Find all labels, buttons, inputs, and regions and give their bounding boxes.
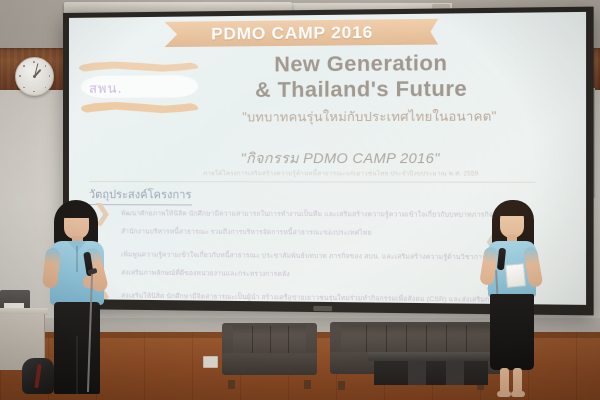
leather-armchair	[222, 323, 317, 381]
slide-title-line2: & Thailand's Future	[190, 76, 535, 104]
hair-fringe	[61, 202, 92, 218]
armchair-cushion	[222, 353, 317, 375]
list-item-text: พัฒนาศักยภาพให้นิสิต นักศึกษามีความสามาร…	[121, 210, 506, 237]
list-item-text: เพิ่มพูนความรู้ความเข้าใจเกี่ยวกับหนี้สา…	[121, 251, 521, 278]
armchair-back	[222, 323, 317, 357]
right-presenter	[478, 198, 556, 400]
flag-script-text: สพน.	[89, 77, 194, 98]
left-shoe	[497, 391, 511, 397]
ribbon-title: PDMO CAMP 2016	[211, 22, 373, 44]
coffee-table	[368, 352, 494, 390]
left-presenter	[36, 196, 120, 400]
slide-title-line1: New Generation	[190, 50, 535, 78]
hair-fringe	[497, 202, 528, 216]
slide-subtitle: "บทบาทคนรุ่นใหม่กับประเทศไทยในอนาคต"	[190, 106, 551, 128]
objectives-list: ❯ พัฒนาศักยภาพให้นิสิต นักศึกษามีความสาม…	[87, 202, 522, 305]
shirt-placket	[76, 246, 78, 272]
list-item: ❯ เพิ่มพูนความรู้ความเข้าใจเกี่ยวกับหนี้…	[87, 243, 522, 283]
wall-clock-icon	[15, 57, 54, 96]
slide-divider	[89, 181, 535, 183]
pencil-skirt	[490, 294, 534, 370]
list-item: ❯ ส่งเสริมให้นิสิต นักศึกษามีจิตสาธารณะเ…	[87, 284, 522, 305]
right-shoe	[511, 391, 525, 397]
list-item: ❯ พัฒนาศักยภาพให้นิสิต นักศึกษามีความสาม…	[87, 202, 522, 241]
slide-title: New Generation & Thailand's Future	[190, 50, 535, 104]
slide-ribbon-banner: PDMO CAMP 2016	[165, 19, 422, 47]
ribbon-tail	[421, 19, 438, 45]
wall-outlet-icon	[203, 356, 218, 368]
slide-activity-title: "กิจกรรม PDMO CAMP 2016"	[159, 148, 524, 171]
photo-scene: PDMO CAMP 2016 สพน. New Generation & Tha…	[0, 0, 600, 400]
slide-activity-subtitle: ภายใต้โครงการเสริมสร้างความรู้ด้านหนี้สา…	[159, 168, 524, 179]
paper-notes	[505, 263, 526, 288]
waving-flag-icon: สพน.	[77, 57, 203, 120]
screen-bottom-weight	[313, 306, 332, 311]
table-top	[368, 352, 494, 361]
list-item-text: ส่งเสริมให้นิสิต นักศึกษามีจิตสาธารณะเป็…	[121, 293, 497, 305]
